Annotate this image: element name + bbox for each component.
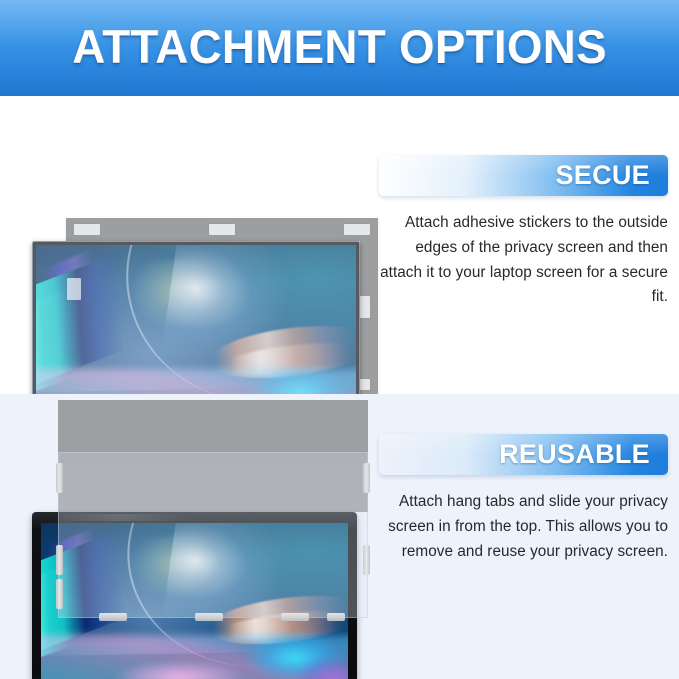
body-text-reusable: Attach hang tabs and slide your privacy … (379, 490, 668, 564)
adhesive-sticker-icon (344, 224, 370, 235)
page-title: ATTACHMENT OPTIONS (72, 23, 607, 74)
copy-block-secure: SECUE Attach adhesive stickers to the ou… (379, 155, 679, 310)
badge-label: SECUE (555, 160, 668, 191)
monitor-screen (41, 523, 348, 679)
attachment-options-infographic: ATTACHMENT OPTIONS (0, 0, 679, 679)
section-secure: SECUE Attach adhesive stickers to the ou… (0, 96, 679, 394)
wallpaper-abstract-waves (36, 245, 356, 417)
badge-secure: SECUE (379, 155, 668, 196)
adhesive-sticker-icon (209, 224, 235, 235)
monitor-bezel (32, 512, 357, 679)
header-banner: ATTACHMENT OPTIONS (0, 0, 679, 96)
hang-tab-icon (363, 545, 370, 575)
copy-block-reusable: REUSABLE Attach hang tabs and slide your… (379, 434, 679, 564)
wallpaper-abstract-waves (41, 523, 348, 679)
badge-label: REUSABLE (499, 439, 668, 470)
badge-reusable: REUSABLE (379, 434, 668, 475)
adhesive-sticker-icon (74, 224, 100, 235)
bezel-gloss (52, 514, 189, 521)
monitor-screen (36, 245, 356, 417)
section-reusable: REUSABLE Attach hang tabs and slide your… (0, 394, 679, 679)
body-text-secure: Attach adhesive stickers to the outside … (379, 211, 668, 310)
monitor-thick-bezel (32, 512, 357, 679)
privacy-film-panel-reusable (58, 400, 368, 512)
